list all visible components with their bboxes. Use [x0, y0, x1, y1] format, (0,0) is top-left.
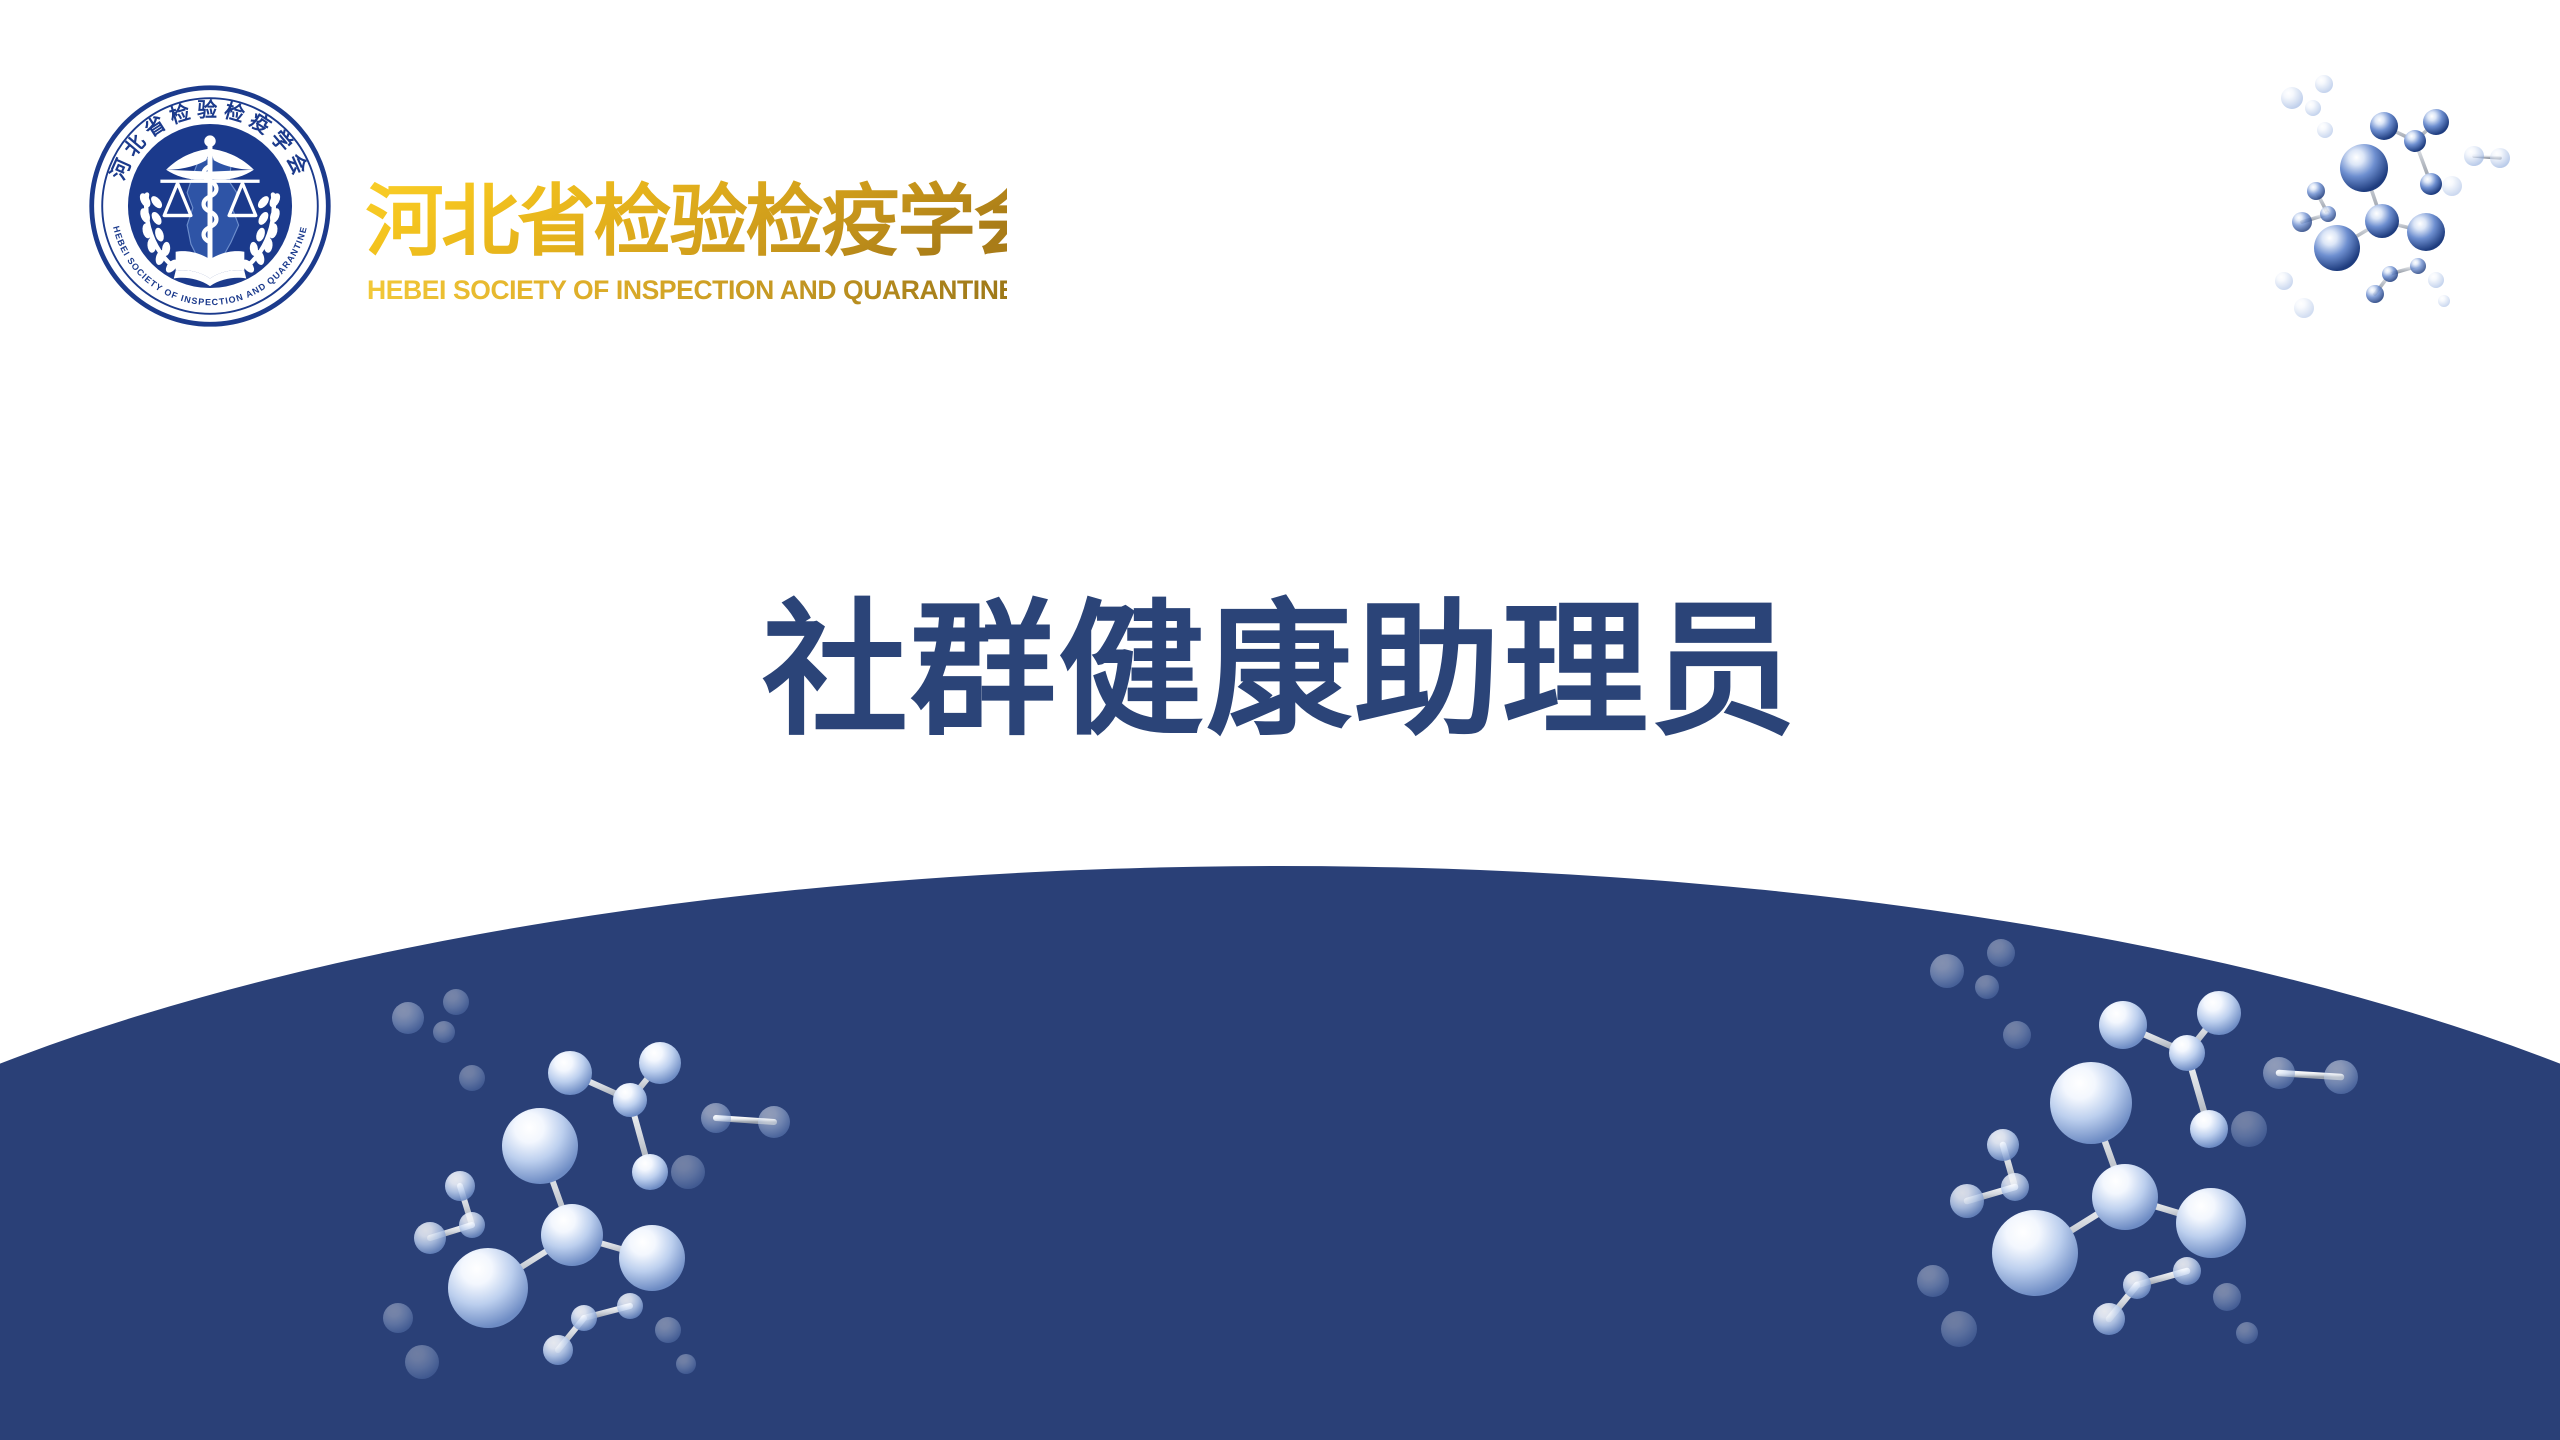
title-slide: 河北省检验检疫学会 HEBEI SOCIETY OF INSPECTION AN… [0, 0, 2560, 1440]
organization-name-cn: 河北省检验检疫学会 [364, 174, 1007, 266]
hebei-inspection-quarantine-seal-icon: 河北省检验检疫学会 HEBEI SOCIETY OF INSPECTION AN… [86, 82, 334, 330]
organization-wordmark: 河北省检验检疫学会 HEBEI SOCIETY OF INSPECTION AN… [364, 104, 1007, 308]
organization-logo-lockup: 河北省检验检疫学会 HEBEI SOCIETY OF INSPECTION AN… [86, 82, 1007, 330]
molecule-graphic-icon [2212, 36, 2542, 346]
svg-text:HEBEI SOCIETY OF INSPECTION AN: HEBEI SOCIETY OF INSPECTION AND QUARANTI… [367, 275, 1007, 305]
organization-name-en: HEBEI SOCIETY OF INSPECTION AND QUARANTI… [367, 272, 1007, 308]
navy-curved-band [0, 866, 2560, 1440]
svg-text:河北省检验检疫学会: 河北省检验检疫学会 [366, 176, 1008, 266]
page-title: 社群健康助理员 [0, 590, 2560, 754]
